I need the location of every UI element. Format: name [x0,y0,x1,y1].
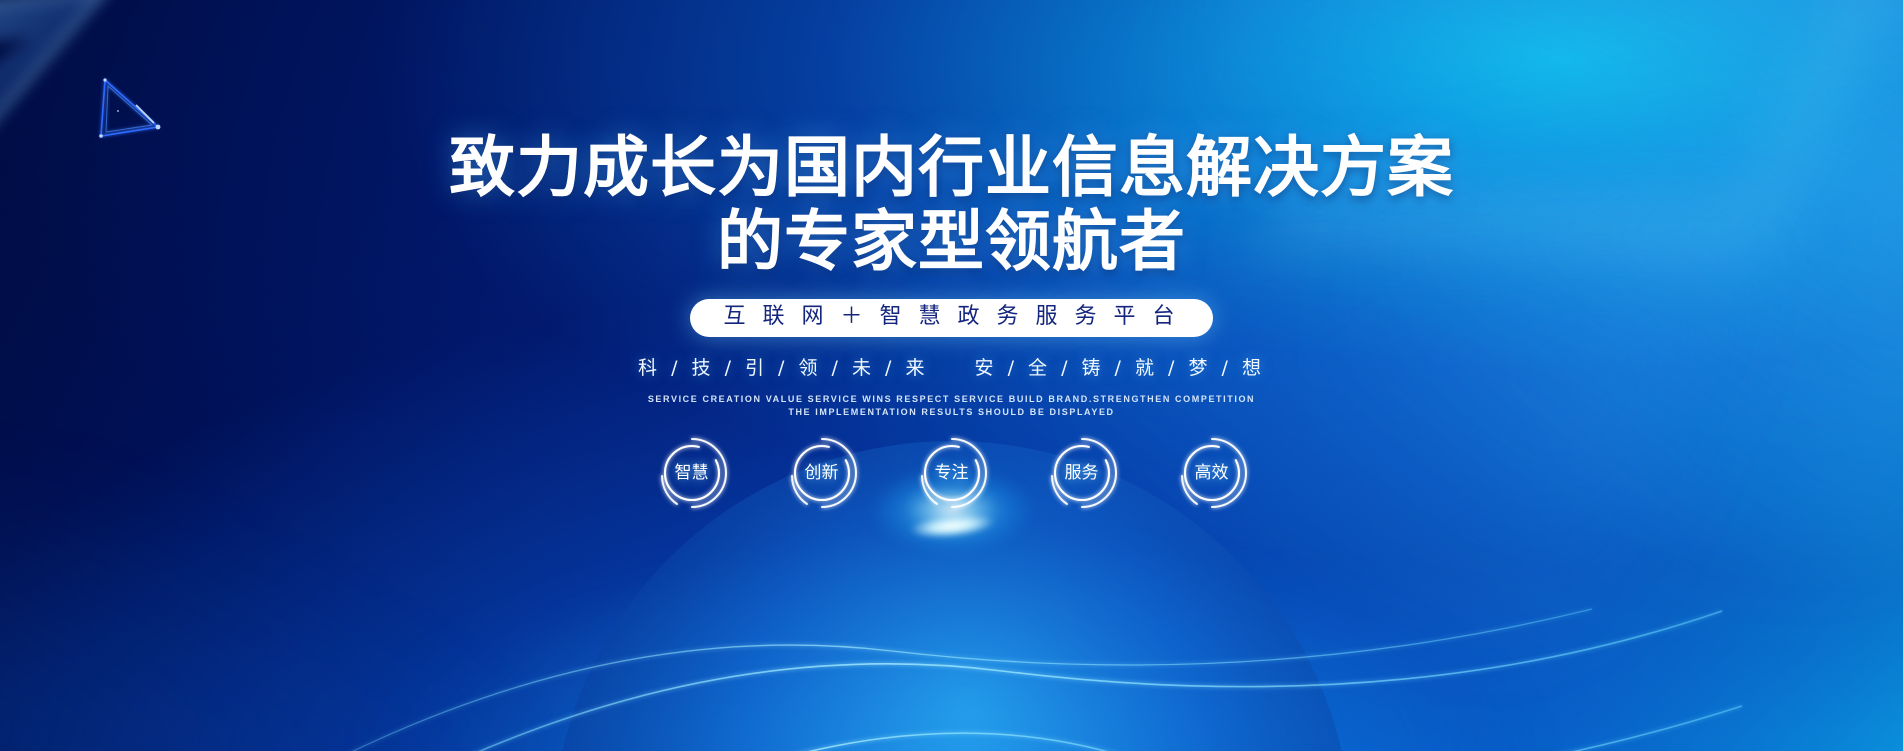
page-title: 致力成长为国内行业信息解决方案 的专家型领航者 [0,133,1903,277]
badge-label: 智慧 [675,464,709,482]
feature-badge-list: 智慧 创新 [0,441,1903,505]
headline-line-1: 致力成长为国内行业信息解决方案 [0,133,1903,203]
badge-item[interactable]: 智慧 [660,441,724,505]
globe-glow [202,501,1702,751]
badge-item[interactable]: 专注 [920,441,984,505]
slogan-right: 安 / 全 / 铸 / 就 / 梦 / 想 [975,357,1265,379]
badge-label: 专注 [935,464,969,482]
platform-pill-label: 互 联 网 ＋ 智 慧 政 务 服 务 平 台 [690,299,1214,337]
badge-label: 创新 [805,464,839,482]
badge-item[interactable]: 创新 [790,441,854,505]
banner-content: 致力成长为国内行业信息解决方案 的专家型领航者 互 联 网 ＋ 智 慧 政 务 … [0,0,1903,505]
badge-item[interactable]: 服务 [1050,441,1114,505]
headline-line-2: 的专家型领航者 [0,207,1903,277]
slogan-left: 科 / 技 / 引 / 领 / 未 / 来 [638,357,928,379]
english-line-2: THE IMPLEMENTATION RESULTS SHOULD BE DIS… [0,406,1903,419]
badge-item[interactable]: 高效 [1180,441,1244,505]
slogan-row: 科 / 技 / 引 / 领 / 未 / 来 安 / 全 / 铸 / 就 / 梦 … [0,357,1903,379]
english-line-1: SERVICE CREATION VALUE SERVICE WINS RESP… [0,393,1903,406]
english-subtitle: SERVICE CREATION VALUE SERVICE WINS RESP… [0,393,1903,419]
badge-label: 高效 [1195,464,1229,482]
subtitle-pill-wrap: 互 联 网 ＋ 智 慧 政 务 服 务 平 台 [0,299,1903,337]
hero-banner: 致力成长为国内行业信息解决方案 的专家型领航者 互 联 网 ＋ 智 慧 政 务 … [0,0,1903,751]
light-streak-bottom-left [0,511,500,751]
badge-label: 服务 [1065,464,1099,482]
globe-hotspot-core [908,511,996,542]
